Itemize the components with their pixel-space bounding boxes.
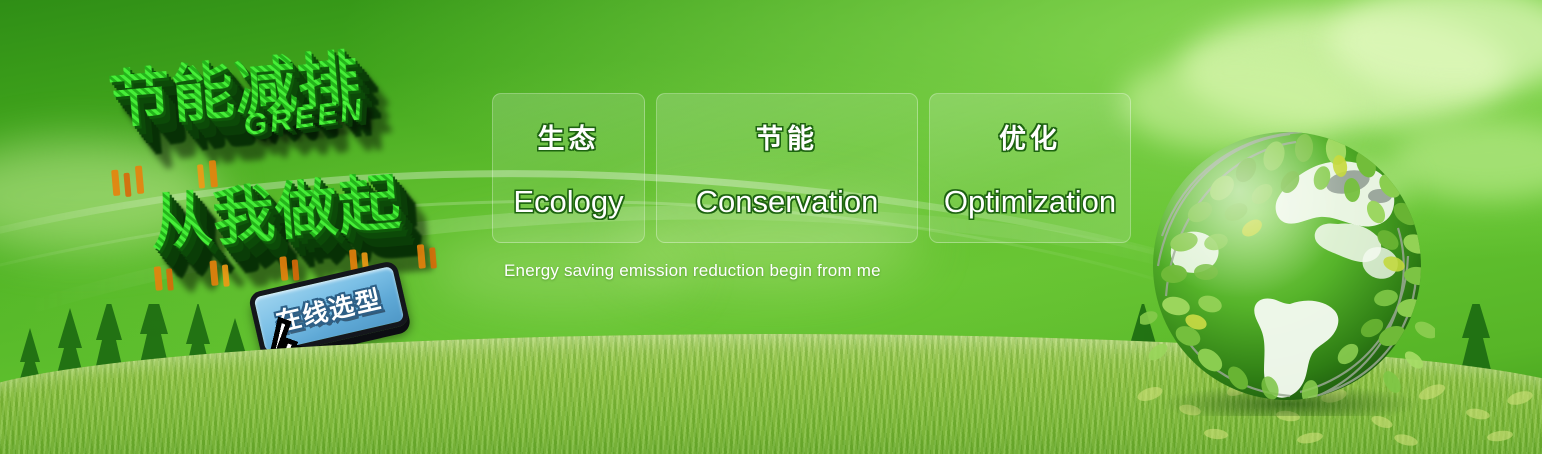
cloud-decoration [1180, 10, 1510, 130]
card-title-en: Conservation [696, 184, 879, 220]
card-title-cn: 优化 [999, 117, 1061, 156]
card-title-en: Ecology [513, 184, 623, 220]
card-title-cn: 生态 [538, 117, 600, 156]
cloud-decoration [1330, 0, 1542, 95]
leafy-globe-icon [1140, 116, 1435, 416]
feature-card-group: 生态 Ecology 节能 Conservation 优化 Optimizati… [492, 93, 1131, 243]
tagline-text: Energy saving emission reduction begin f… [504, 261, 881, 281]
feature-card-conservation[interactable]: 节能 Conservation [656, 93, 918, 243]
headline-line-2: 从我做起 [146, 143, 505, 263]
card-title-cn: 节能 [756, 117, 818, 156]
card-title-en: Optimization [944, 184, 1116, 220]
headline-group: 节能减排 GREEN 从我做起 [87, 17, 506, 281]
feature-card-optimization[interactable]: 优化 Optimization [929, 93, 1131, 243]
green-energy-banner: 节能减排 GREEN 从我做起 [0, 0, 1542, 454]
feature-card-ecology[interactable]: 生态 Ecology [492, 93, 645, 243]
